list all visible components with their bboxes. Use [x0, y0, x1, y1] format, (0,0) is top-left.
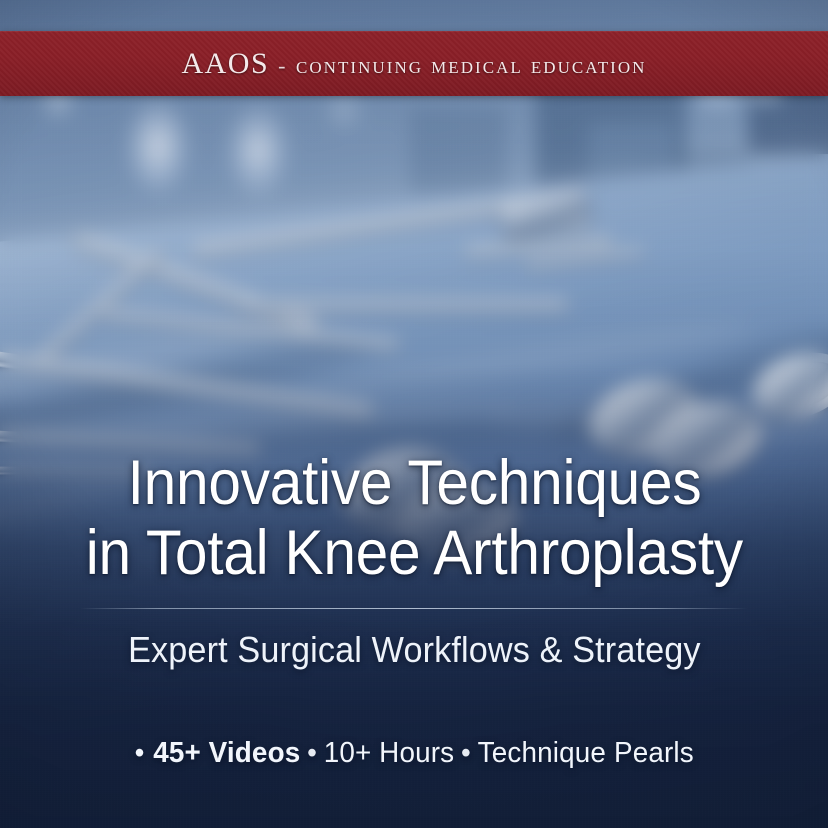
banner-text: AAOS - Continuing Medical Education	[181, 47, 646, 81]
subtitle: Expert Surgical Workflows & Strategy	[128, 629, 701, 671]
banner-program: Continuing Medical Education	[296, 53, 647, 80]
feature-2-label: Hours	[379, 737, 454, 770]
banner-organization: AAOS	[181, 47, 269, 81]
title-line-1: Innovative Techniques	[127, 448, 701, 518]
bullet-icon-3: •	[454, 737, 477, 770]
feature-1-count: 45+	[153, 737, 201, 770]
cme-banner: AAOS - Continuing Medical Education	[0, 31, 828, 96]
course-promo-poster: AAOS - Continuing Medical Education Inno…	[0, 0, 828, 828]
title-divider	[80, 608, 748, 609]
feature-list: • 45+ Videos • 10+ Hours • Technique Pea…	[134, 737, 693, 770]
bullet-icon-2: •	[300, 737, 323, 770]
feature-1-label: Videos	[208, 737, 300, 770]
feature-2-count: 10+	[323, 737, 371, 770]
hero-text-block: Innovative Techniques in Total Knee Arth…	[0, 448, 828, 828]
bullet-icon-1: •	[134, 737, 153, 770]
title-line-2: in Total Knee Arthroplasty	[85, 518, 742, 588]
feature-3-label: Technique Pearls	[477, 737, 693, 770]
banner-separator: -	[269, 53, 296, 79]
